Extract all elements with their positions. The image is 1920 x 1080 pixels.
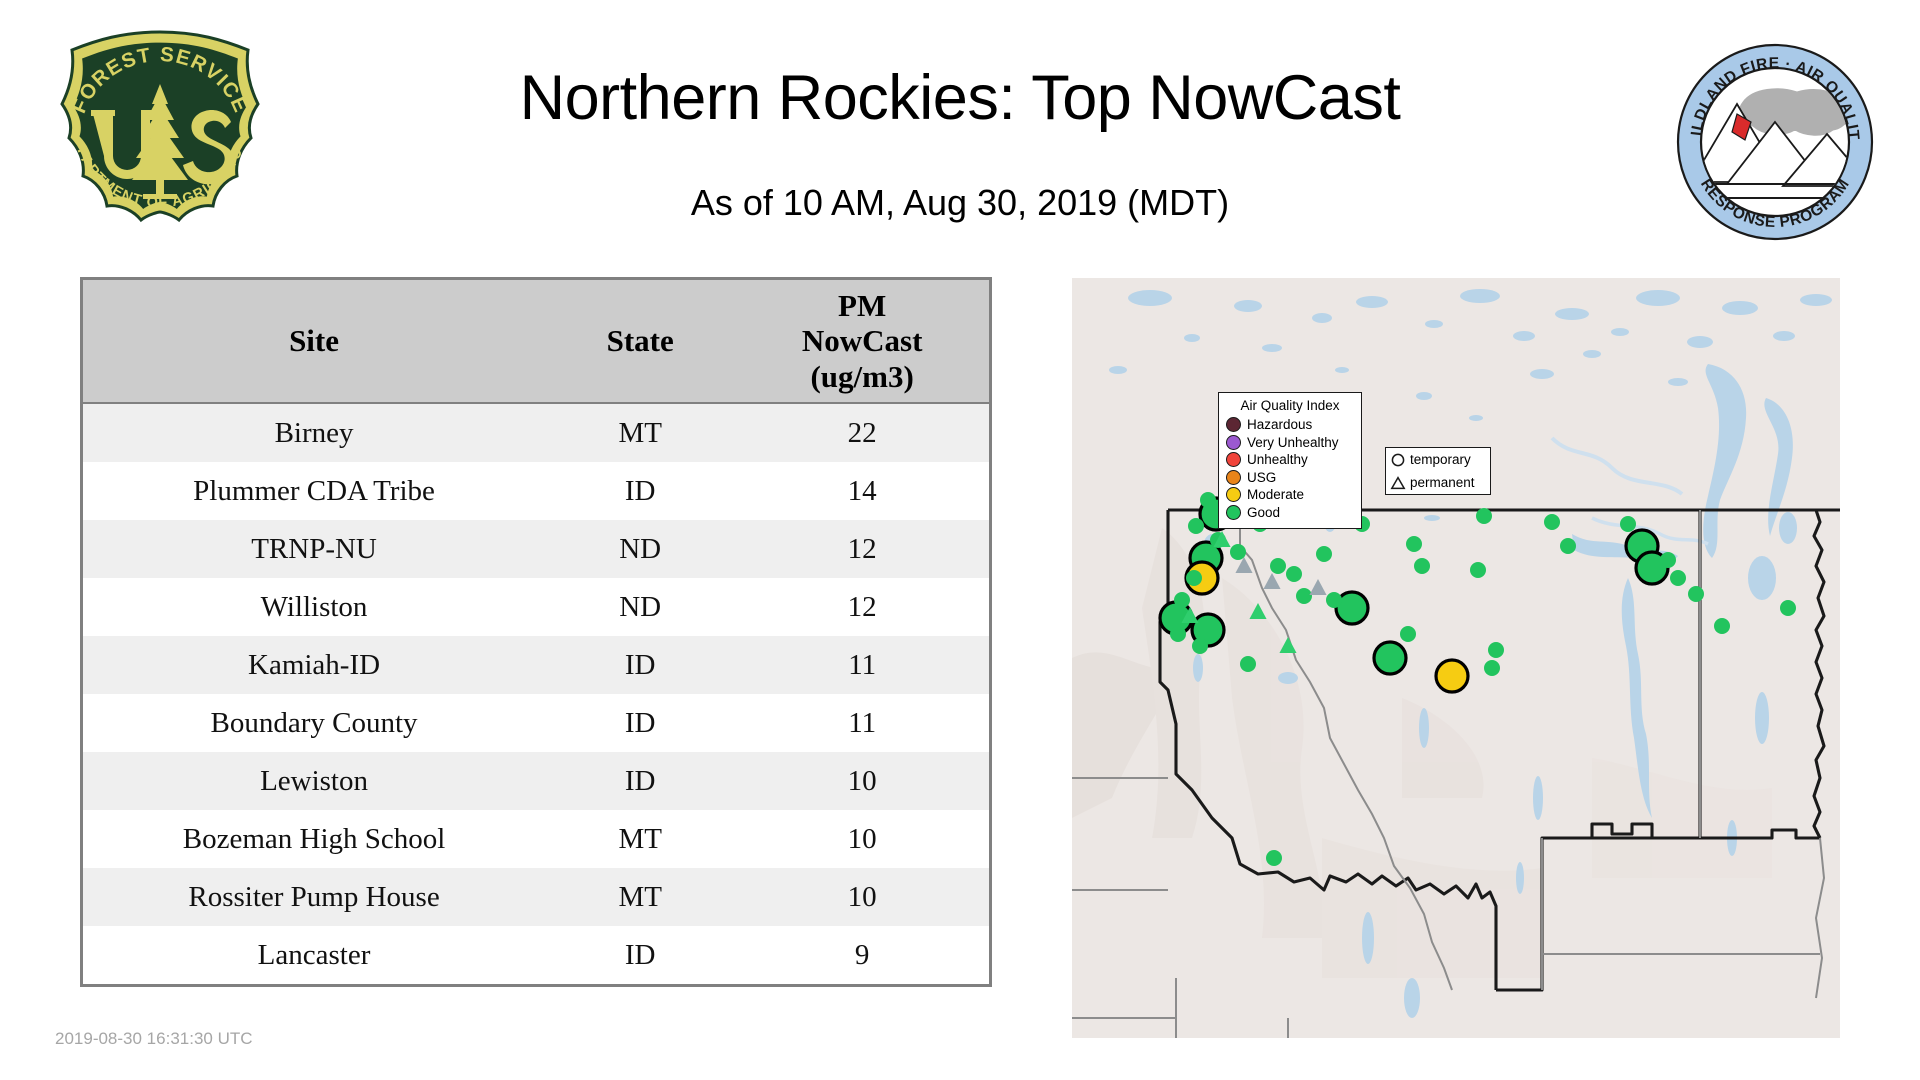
table-row: Boundary CountyID11 [83,694,989,752]
aqi-legend-entry: USG [1226,469,1354,487]
aqi-legend-label: Good [1247,506,1280,520]
monitor-marker-temporary[interactable] [1484,660,1500,676]
pm-nowcast-cell: 22 [735,403,989,462]
column-header-pm-line3: (ug/m3) [735,359,989,394]
monitor-marker-temporary[interactable] [1470,562,1486,578]
aqi-legend-label: Unhealthy [1247,453,1308,467]
aqi-legend-entry: Very Unhealthy [1226,434,1354,452]
page-title: Northern Rockies: Top NowCast [0,62,1920,134]
monitor-marker-temporary[interactable] [1230,544,1246,560]
table-row: LewistonID10 [83,752,989,810]
state-cell: ID [545,636,735,694]
monitor-marker-temporary[interactable] [1188,518,1204,534]
table-body: BirneyMT22Plummer CDA TribeID14TRNP-NUND… [83,403,989,984]
site-cell: Bozeman High School [83,810,545,868]
site-cell: Williston [83,578,545,636]
monitor-marker-temporary[interactable] [1406,536,1422,552]
monitor-marker-temporary[interactable] [1714,618,1730,634]
monitor-marker-temporary[interactable] [1780,600,1796,616]
aqi-legend-swatch-icon [1226,417,1241,432]
aqi-legend-label: Hazardous [1247,418,1312,432]
column-header-pm-nowcast: PM NowCast (ug/m3) [735,280,989,403]
monitor-marker-temporary[interactable] [1240,656,1256,672]
site-cell: Boundary County [83,694,545,752]
table-row: BirneyMT22 [83,403,989,462]
table-row: Rossiter Pump HouseMT10 [83,868,989,926]
pm-nowcast-cell: 10 [735,752,989,810]
table-row: LancasterID9 [83,926,989,984]
aqi-legend-entry: Hazardous [1226,416,1354,434]
aqi-legend-swatch-icon [1226,487,1241,502]
state-cell: ID [545,926,735,984]
monitor-marker-temporary[interactable] [1296,588,1312,604]
triangle-outline-icon [1390,475,1406,491]
aqi-legend-entry: Moderate [1226,486,1354,504]
aqi-legend-label: Moderate [1247,488,1304,502]
monitor-marker-temporary[interactable] [1560,538,1576,554]
aqi-table-container: Site State PM NowCast (ug/m3) BirneyMT22… [80,277,992,987]
site-cell: Rossiter Pump House [83,868,545,926]
column-header-pm-line2: NowCast [735,323,989,358]
aqi-legend-label: Very Unhealthy [1247,436,1339,450]
state-cell: MT [545,403,735,462]
table-row: TRNP-NUND12 [83,520,989,578]
aqi-legend-swatch-icon [1226,452,1241,467]
monitor-marker-temporary[interactable] [1476,508,1492,524]
air-quality-monitor-map[interactable]: Air Quality Index HazardousVery Unhealth… [1072,278,1840,1038]
site-cell: Lancaster [83,926,545,984]
site-cell: Lewiston [83,752,545,810]
page-subtitle: As of 10 AM, Aug 30, 2019 (MDT) [0,182,1920,224]
site-cell: Kamiah-ID [83,636,545,694]
monitor-marker-temporary[interactable] [1400,626,1416,642]
aqi-legend-entry: Unhealthy [1226,451,1354,469]
monitor-type-legend: temporary permanent [1385,447,1491,495]
pm-nowcast-cell: 10 [735,868,989,926]
monitor-marker-temporary[interactable] [1186,570,1202,586]
table-row: Bozeman High SchoolMT10 [83,810,989,868]
permanent-label: permanent [1410,476,1475,490]
table-row: Plummer CDA TribeID14 [83,462,989,520]
monitor-marker-temporary[interactable] [1488,642,1504,658]
pm-nowcast-cell: 10 [735,810,989,868]
state-cell: ID [545,462,735,520]
monitor-marker-temporary[interactable] [1174,592,1190,608]
aqi-legend-swatch-icon [1226,505,1241,520]
state-cell: MT [545,868,735,926]
state-cell: ND [545,520,735,578]
aqi-legend-swatch-icon [1226,470,1241,485]
aqi-legend-title: Air Quality Index [1226,398,1354,413]
top-nowcast-table: Site State PM NowCast (ug/m3) BirneyMT22… [83,280,989,984]
table-header-row: Site State PM NowCast (ug/m3) [83,280,989,403]
aqi-legend: Air Quality Index HazardousVery Unhealth… [1218,392,1362,529]
monitor-marker-temporary[interactable] [1270,558,1286,574]
aqi-legend-entry: Good [1226,504,1354,522]
aqi-legend-label: USG [1247,471,1276,485]
monitor-marker-temporary[interactable] [1200,492,1216,508]
column-header-site: Site [83,280,545,403]
state-cell: ID [545,752,735,810]
monitor-marker-temporary[interactable] [1620,516,1636,532]
pm-nowcast-cell: 11 [735,694,989,752]
monitor-marker-temporary[interactable] [1660,552,1676,568]
monitor-marker-temporary[interactable] [1286,566,1302,582]
pm-nowcast-cell: 11 [735,636,989,694]
pm-nowcast-cell: 12 [735,578,989,636]
table-row: WillistonND12 [83,578,989,636]
monitor-marker-temporary[interactable] [1266,850,1282,866]
site-cell: TRNP-NU [83,520,545,578]
monitor-marker-temporary[interactable] [1414,558,1430,574]
footer-timestamp: 2019-08-30 16:31:30 UTC [55,1029,253,1049]
pm-nowcast-cell: 14 [735,462,989,520]
monitor-marker-temporary[interactable] [1374,642,1406,674]
monitor-marker-temporary[interactable] [1326,592,1342,608]
pm-nowcast-cell: 12 [735,520,989,578]
column-header-state: State [545,280,735,403]
site-cell: Birney [83,403,545,462]
circle-outline-icon [1390,452,1406,468]
aqi-legend-swatch-icon [1226,435,1241,450]
monitor-marker-temporary[interactable] [1192,638,1208,654]
table-row: Kamiah-IDID11 [83,636,989,694]
site-cell: Plummer CDA Tribe [83,462,545,520]
state-cell: ND [545,578,735,636]
state-cell: MT [545,810,735,868]
monitor-marker-temporary[interactable] [1670,570,1686,586]
monitor-marker-temporary[interactable] [1544,514,1560,530]
monitor-marker-temporary[interactable] [1436,660,1468,692]
monitor-marker-temporary[interactable] [1316,546,1332,562]
state-cell: ID [545,694,735,752]
monitor-marker-temporary[interactable] [1170,626,1186,642]
temporary-label: temporary [1410,453,1471,467]
monitor-marker-temporary[interactable] [1688,586,1704,602]
column-header-pm-line1: PM [735,288,989,323]
pm-nowcast-cell: 9 [735,926,989,984]
